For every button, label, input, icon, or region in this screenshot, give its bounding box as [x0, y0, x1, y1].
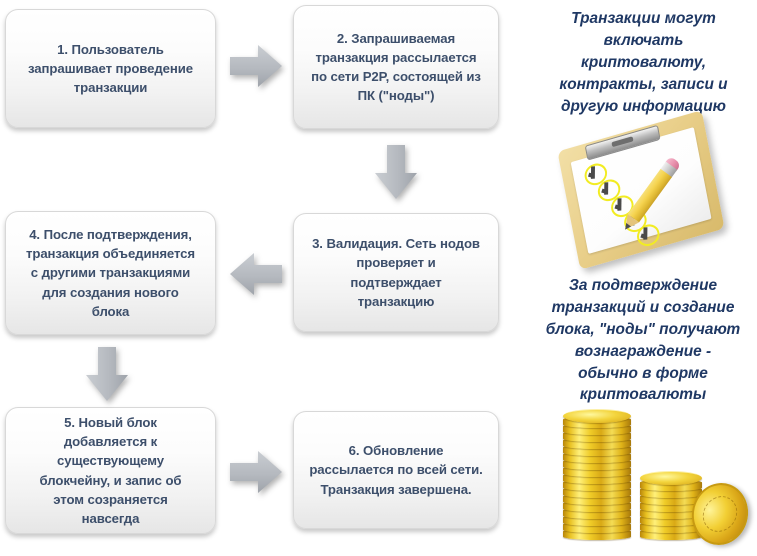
- process-box-step-5: 5. Новый блок добавляется к существующем…: [5, 407, 216, 534]
- arrow-down-icon: [83, 345, 131, 403]
- process-box-step-6: 6. Обновление рассылается по всей сети. …: [293, 411, 499, 529]
- process-box-step-4: 4. После подтверждения, транзакция объед…: [5, 211, 216, 335]
- process-box-step-3-label: 3. Валидация. Сеть нодов проверяет и под…: [312, 234, 480, 311]
- process-box-step-4-label: 4. После подтверждения, транзакция объед…: [26, 225, 195, 321]
- process-box-step-3: 3. Валидация. Сеть нодов проверяет и под…: [293, 213, 499, 332]
- coin-top: [640, 471, 702, 485]
- arrow-down-step2-to-step3: [372, 143, 420, 201]
- arrow-left-step3-to-step4: [228, 250, 284, 298]
- gold-coins-illustration: [545, 408, 750, 536]
- process-box-step-2-label: 2. Запрашиваемая транзакция рассылается …: [311, 29, 481, 106]
- arrow-down-step4-to-step5: [83, 345, 131, 403]
- note-node-reward: За подтверждение транзакций и создание б…: [528, 275, 757, 406]
- clipboard-checklist-illustration: [548, 128, 753, 256]
- process-box-step-5-label: 5. Новый блок добавляется к существующем…: [40, 413, 182, 528]
- clipboard-icon: [557, 110, 724, 270]
- arrow-down-icon: [372, 143, 420, 201]
- note-transactions-include: Транзакции могут включать криптовалюту, …: [530, 8, 757, 117]
- arrow-right-step1-to-step2: [228, 42, 284, 90]
- arrow-left-icon: [228, 250, 284, 298]
- process-box-step-6-label: 6. Обновление рассылается по всей сети. …: [309, 441, 482, 498]
- arrow-right-icon: [228, 42, 284, 90]
- arrow-right-icon: [228, 448, 284, 496]
- process-box-step-2: 2. Запрашиваемая транзакция рассылается …: [293, 5, 499, 129]
- arrow-right-step5-to-step6: [228, 448, 284, 496]
- process-box-step-1: 1. Пользователь запрашивает проведение т…: [5, 9, 216, 128]
- coin-top: [563, 409, 631, 423]
- process-box-step-1-label: 1. Пользователь запрашивает проведение т…: [28, 40, 193, 97]
